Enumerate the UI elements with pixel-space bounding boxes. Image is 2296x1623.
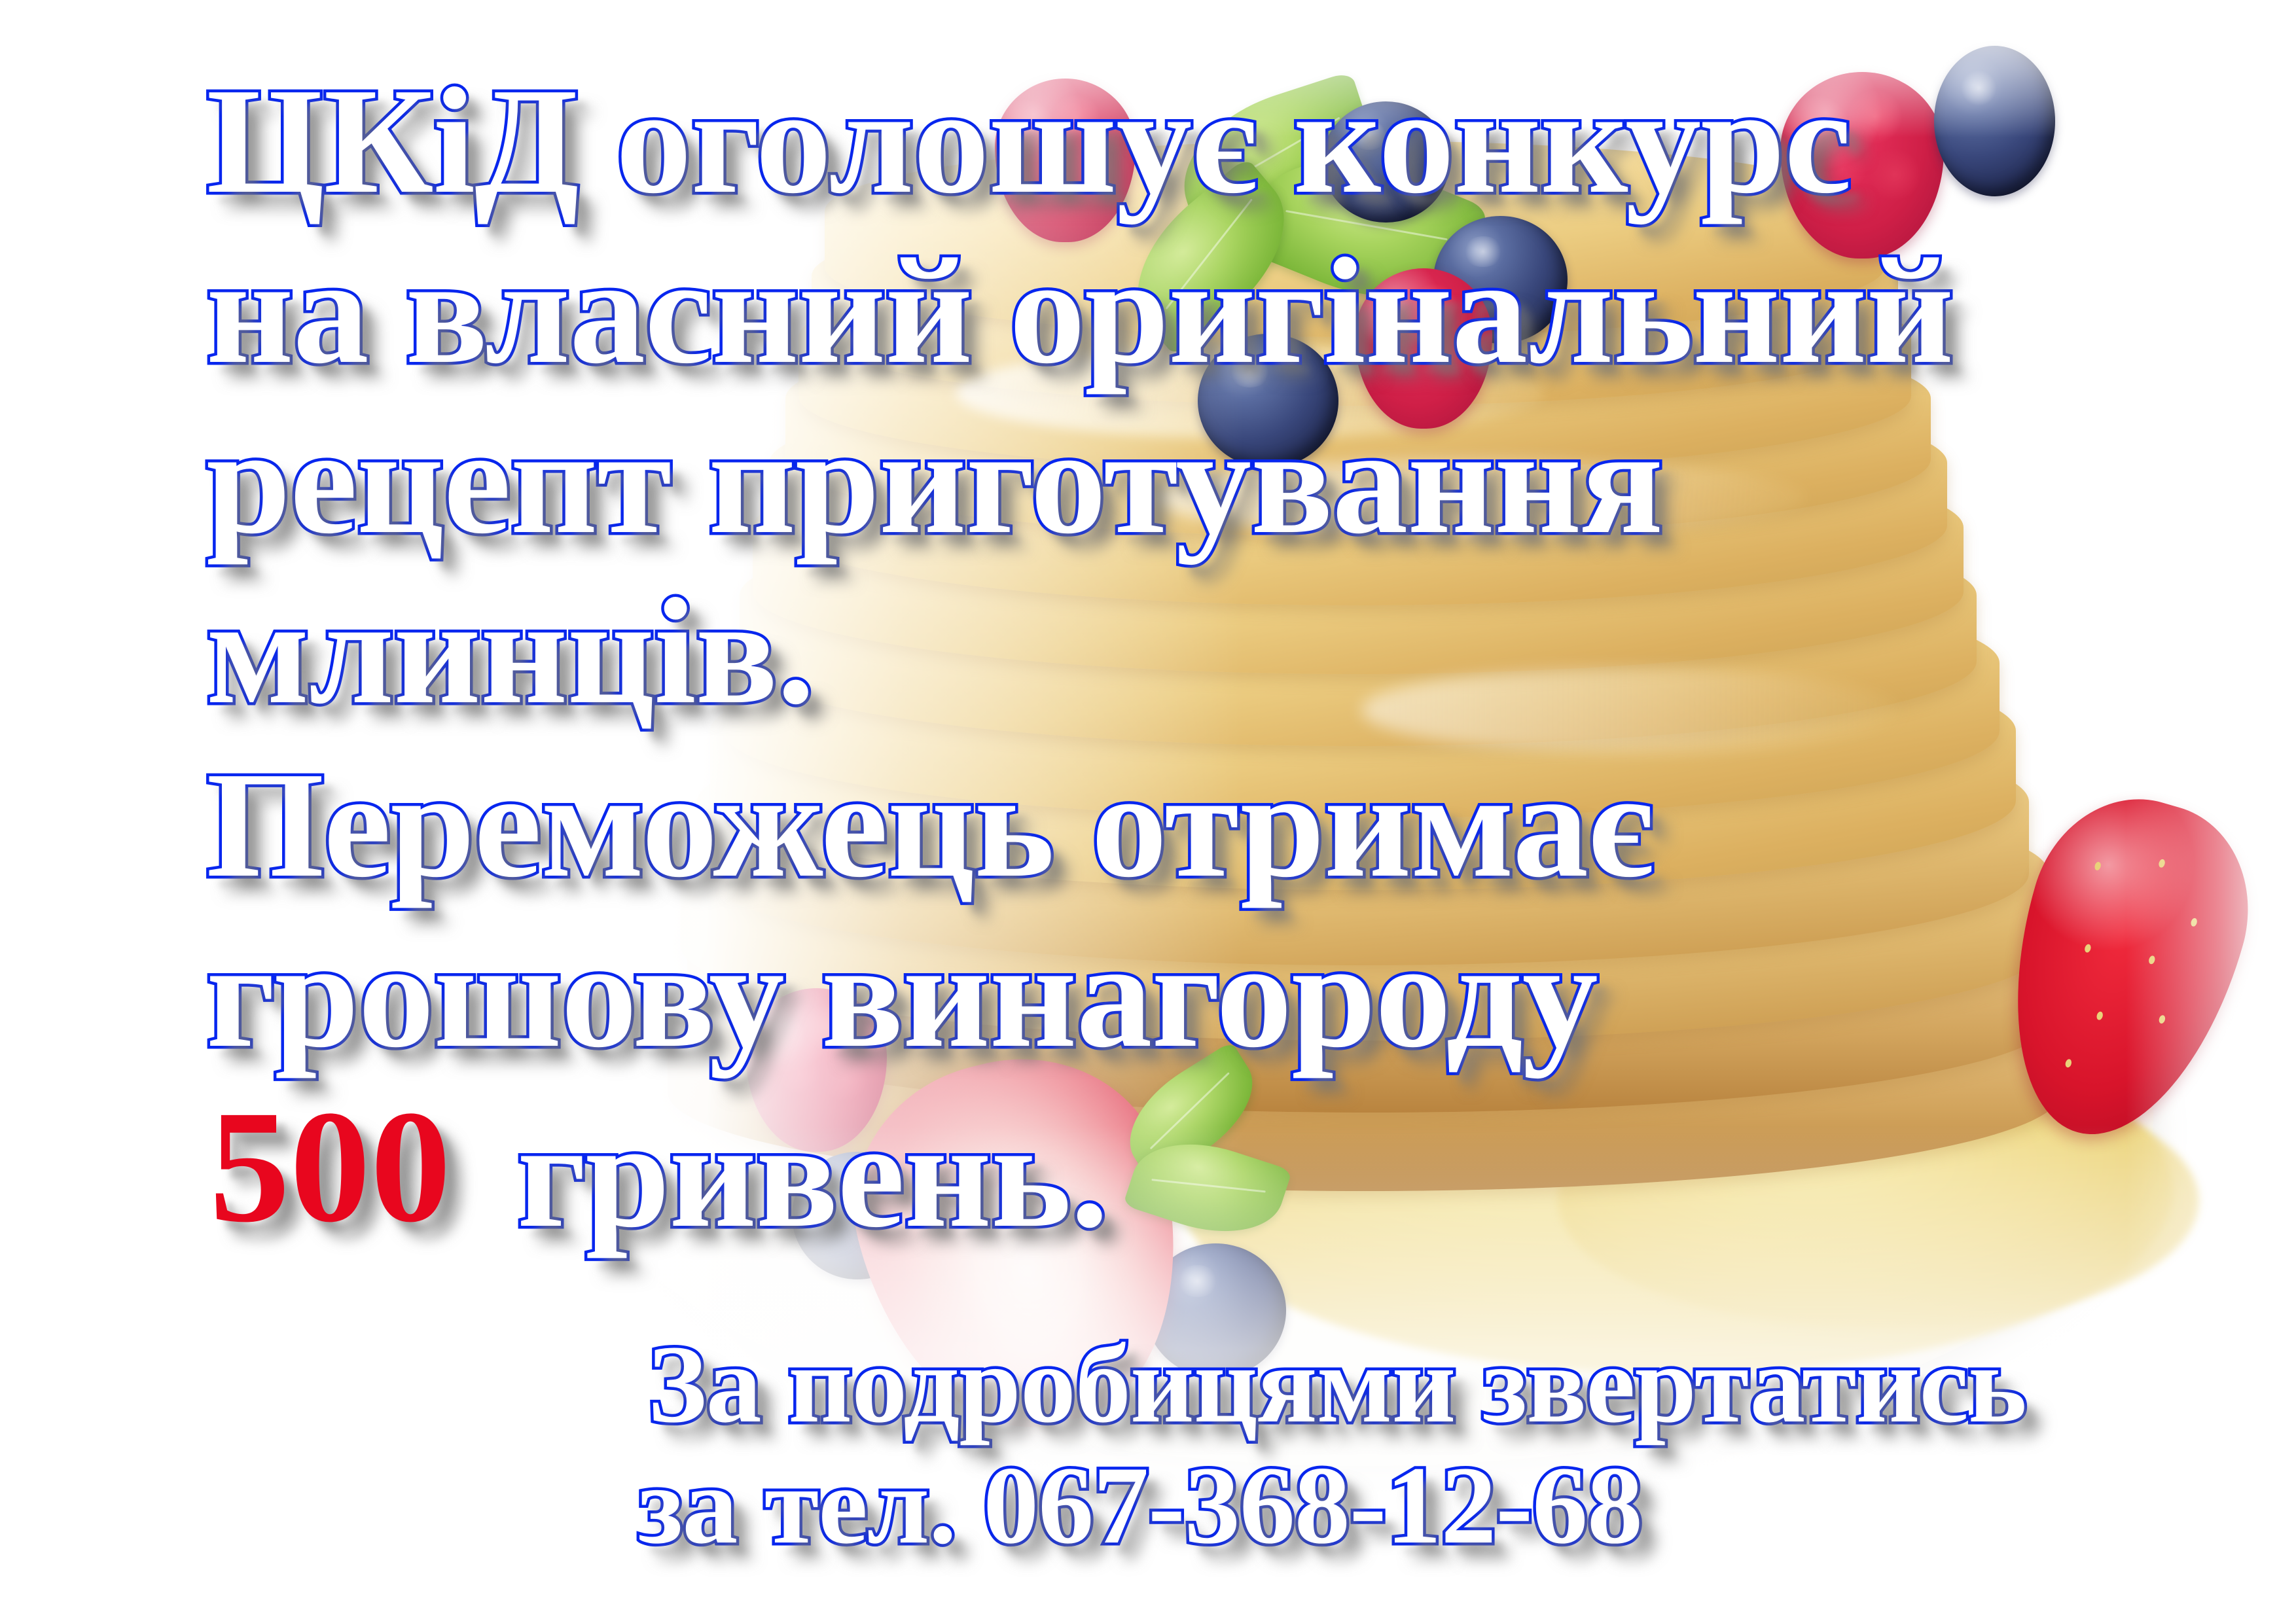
headline-line-2: на власний оригінальний — [206, 236, 1953, 387]
headline-line-1: ЦКіД оголошує конкурс — [206, 65, 1851, 217]
prize-amount: 500 — [209, 1086, 451, 1247]
headline-line-5: Переможець отримає — [206, 749, 1653, 901]
poster-text-layer: ЦКіД оголошує конкурс на власний оригіна… — [0, 0, 2296, 1623]
prize-currency-word: гривень. — [517, 1099, 1108, 1251]
poster-canvas: ЦКіД оголошує конкурс на власний оригіна… — [0, 0, 2296, 1623]
headline-line-4: млинців. — [206, 576, 814, 728]
headline-line-6: грошову винагороду — [206, 919, 1598, 1071]
headline-line-3: рецепт приготування — [206, 406, 1662, 558]
contact-line-1: За подробицями звертатись — [648, 1329, 2026, 1440]
contact-line-2: за тел. 067-368-12-68 — [638, 1450, 1642, 1561]
